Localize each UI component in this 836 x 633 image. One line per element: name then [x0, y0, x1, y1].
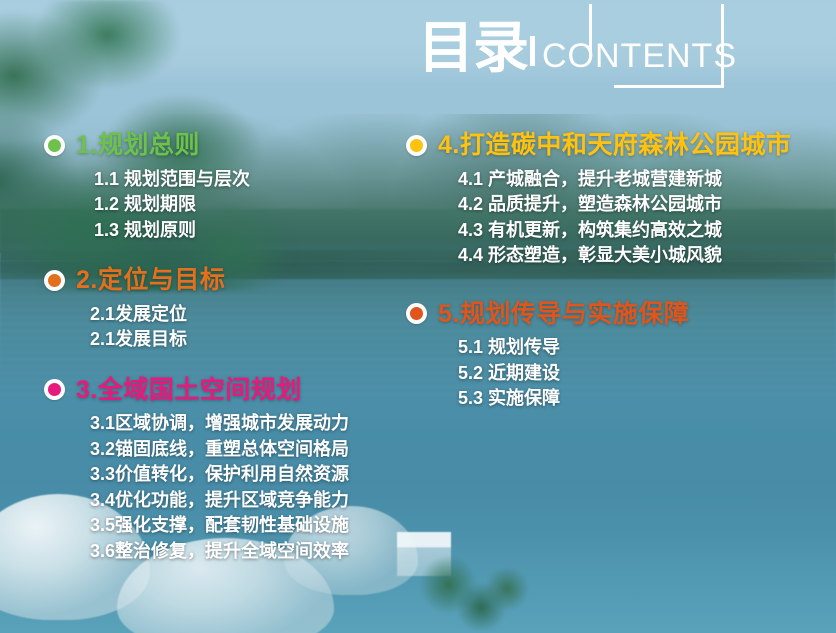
toc-sublist-4: 4.1 产城融合，提升老城营建新城 4.2 品质提升，塑造森林公园城市 4.3 … [406, 167, 836, 269]
bullet-dot-orange-icon [44, 270, 65, 291]
toc-subitem[interactable]: 1.2 规划期限 [94, 192, 424, 218]
bullet-dot-pink-icon [44, 379, 65, 400]
toc-heading-5-label: 5.规划传导与实施保障 [438, 299, 689, 330]
toc-heading-2-label: 2.定位与目标 [76, 265, 225, 296]
toc-subitem[interactable]: 4.2 品质提升，塑造森林公园城市 [458, 192, 836, 218]
toc-subitem[interactable]: 3.2锚固底线，重塑总体空间格局 [90, 437, 424, 463]
toc-sublist-2: 2.1发展定位 2.1发展目标 [44, 302, 424, 353]
bullet-dot-orangered-icon [406, 303, 427, 324]
toc-group-3[interactable]: 3.全域国土空间规划 3.1区域协调，增强城市发展动力 3.2锚固底线，重塑总体… [44, 375, 424, 565]
toc-subitem[interactable]: 3.1区域协调，增强城市发展动力 [90, 411, 424, 437]
toc-sublist-5: 5.1 规划传导 5.2 近期建设 5.3 实施保障 [406, 335, 836, 412]
toc-group-5[interactable]: 5.规划传导与实施保障 5.1 规划传导 5.2 近期建设 5.3 实施保障 [406, 299, 836, 412]
toc-subitem[interactable]: 5.3 实施保障 [458, 386, 836, 412]
toc-group-1[interactable]: 1.规划总则 1.1 规划范围与层次 1.2 规划期限 1.3 规划原则 [44, 130, 424, 243]
toc-subitem[interactable]: 2.1发展定位 [90, 302, 424, 328]
toc-heading-3[interactable]: 3.全域国土空间规划 [44, 375, 424, 406]
toc-subitem[interactable]: 3.4优化功能，提升区域竞争能力 [90, 488, 424, 514]
toc-heading-4[interactable]: 4.打造碳中和天府森林公园城市 [406, 130, 836, 161]
toc-subitem[interactable]: 1.3 规划原则 [94, 218, 424, 244]
toc-group-2[interactable]: 2.定位与目标 2.1发展定位 2.1发展目标 [44, 265, 424, 353]
toc-subitem[interactable]: 1.1 规划范围与层次 [94, 167, 424, 193]
toc-subitem[interactable]: 4.1 产城融合，提升老城营建新城 [458, 167, 836, 193]
toc-subitem[interactable]: 4.4 形态塑造，彰显大美小城风貌 [458, 243, 836, 269]
bullet-dot-yellow-icon [406, 135, 427, 156]
toc-subitem[interactable]: 5.1 规划传导 [458, 335, 836, 361]
toc-subitem[interactable]: 3.6整治修复，提升全域空间效率 [90, 539, 424, 565]
toc-heading-2[interactable]: 2.定位与目标 [44, 265, 424, 296]
toc-heading-5[interactable]: 5.规划传导与实施保障 [406, 299, 836, 330]
toc-heading-1-label: 1.规划总则 [76, 130, 200, 161]
page-title: 目录 CONTENTS [418, 4, 724, 88]
toc-heading-1[interactable]: 1.规划总则 [44, 130, 424, 161]
toc-subitem[interactable]: 5.2 近期建设 [458, 361, 836, 387]
toc-subitem[interactable]: 2.1发展目标 [90, 327, 424, 353]
bullet-dot-green-icon [44, 135, 65, 156]
title-separator-bar [530, 36, 535, 66]
toc-subitem[interactable]: 3.5强化支撑，配套韧性基础设施 [90, 513, 424, 539]
title-chinese: 目录 [418, 20, 528, 76]
toc-column-right: 4.打造碳中和天府森林公园城市 4.1 产城融合，提升老城营建新城 4.2 品质… [406, 130, 836, 418]
title-frame-bottom [614, 85, 724, 88]
toc-sublist-1: 1.1 规划范围与层次 1.2 规划期限 1.3 规划原则 [44, 167, 424, 244]
toc-heading-3-label: 3.全域国土空间规划 [76, 375, 302, 406]
toc-sublist-3: 3.1区域协调，增强城市发展动力 3.2锚固底线，重塑总体空间格局 3.3价值转… [44, 411, 424, 564]
toc-subitem[interactable]: 4.3 有机更新，构筑集约高效之城 [458, 218, 836, 244]
toc-group-4[interactable]: 4.打造碳中和天府森林公园城市 4.1 产城融合，提升老城营建新城 4.2 品质… [406, 130, 836, 269]
toc-subitem[interactable]: 3.3价值转化，保护利用自然资源 [90, 462, 424, 488]
toc-column-left: 1.规划总则 1.1 规划范围与层次 1.2 规划期限 1.3 规划原则 2.定… [44, 130, 424, 571]
title-english: CONTENTS [542, 39, 737, 73]
toc-heading-4-label: 4.打造碳中和天府森林公园城市 [438, 130, 791, 161]
title-row: 目录 CONTENTS [418, 20, 737, 76]
contents-slide: 目录 CONTENTS 1.规划总则 1.1 规划范围与层次 1.2 规划期限 … [0, 0, 836, 633]
